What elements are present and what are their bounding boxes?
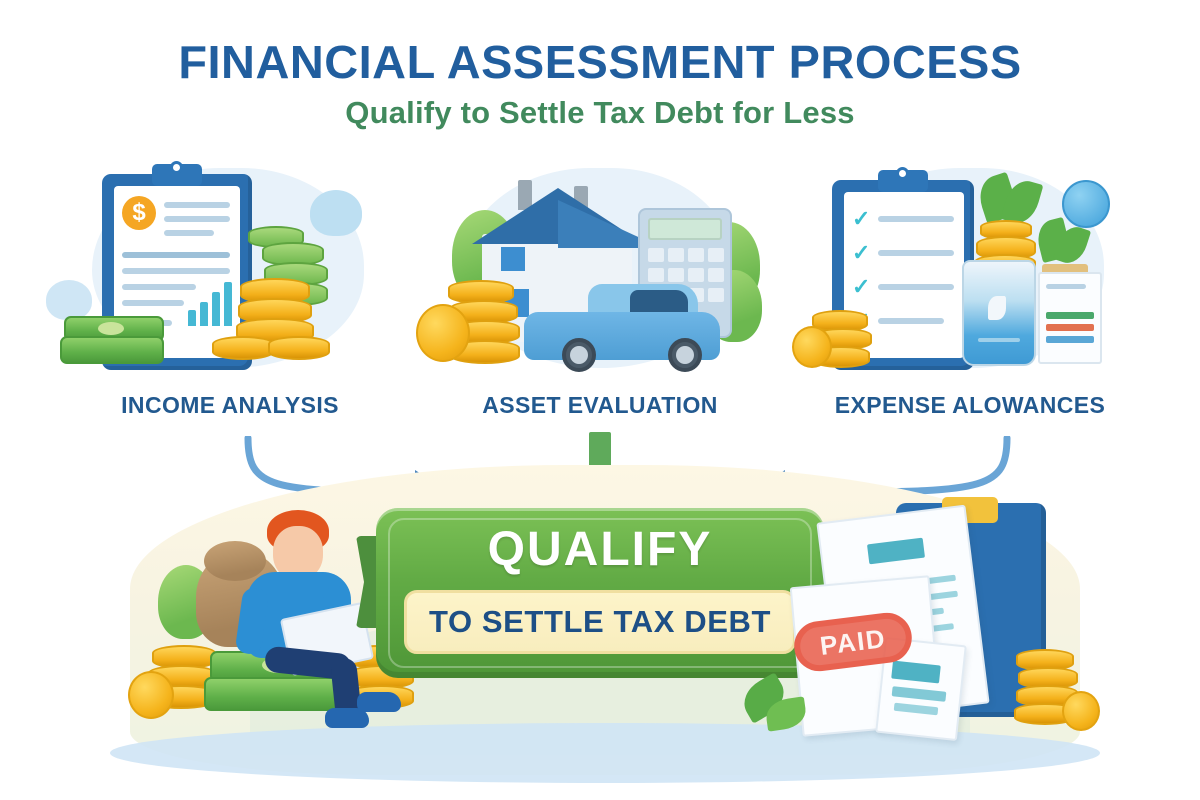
doc-line bbox=[122, 284, 196, 290]
calculator-key bbox=[668, 268, 684, 282]
calculator-key bbox=[708, 288, 724, 302]
calculator-key bbox=[708, 248, 724, 262]
coin-icon bbox=[128, 671, 174, 719]
car-wheel-hub bbox=[570, 346, 588, 364]
clipboard-ring-icon bbox=[896, 167, 909, 180]
qualify-banner[interactable]: QUALIFY TO SETTLE TAX DEBT bbox=[370, 500, 830, 690]
bar-chart-icon bbox=[200, 302, 208, 326]
badge-icon bbox=[1062, 180, 1110, 228]
bar-chart-icon bbox=[188, 310, 196, 326]
coin-icon bbox=[792, 326, 832, 368]
doc-line bbox=[122, 268, 230, 274]
ribbon-body: QUALIFY TO SETTLE TAX DEBT bbox=[376, 508, 824, 678]
banner-plate-text: TO SETTLE TAX DEBT bbox=[429, 604, 771, 640]
receipt-line bbox=[1046, 284, 1086, 289]
window-icon bbox=[498, 244, 528, 274]
chimney-icon bbox=[518, 180, 532, 210]
doc-line bbox=[122, 300, 184, 306]
calculator-key bbox=[668, 248, 684, 262]
coin-stack-icon bbox=[268, 336, 330, 360]
page-title: FINANCIAL ASSESSMENT PROCESS bbox=[0, 38, 1200, 87]
check-icon: ✓ bbox=[852, 206, 870, 232]
step-expense-alowances[interactable]: ✓ ✓ ✓ ✓ bbox=[780, 160, 1160, 440]
car-wheel-hub bbox=[676, 346, 694, 364]
coin-stack-icon bbox=[212, 336, 274, 360]
receipt-bar bbox=[1046, 336, 1094, 343]
calculator-key bbox=[688, 268, 704, 282]
step-label-income-analysis: INCOME ANALYSIS bbox=[40, 392, 420, 419]
bar-chart-icon bbox=[224, 282, 232, 326]
coin-icon bbox=[416, 304, 470, 362]
decor-blob-icon bbox=[46, 280, 92, 320]
cash-seal-icon bbox=[98, 322, 124, 335]
doc-line bbox=[164, 216, 230, 222]
expense-alowances-illustration: ✓ ✓ ✓ ✓ bbox=[780, 160, 1160, 390]
calculator-key bbox=[648, 268, 664, 282]
step-label-expense-alowances: EXPENSE ALOWANCES bbox=[780, 392, 1160, 419]
calculator-key bbox=[708, 268, 724, 282]
doc-line bbox=[878, 284, 954, 290]
cash-stack-icon bbox=[60, 336, 164, 364]
doc-line bbox=[122, 252, 230, 258]
clipboard-ring-icon bbox=[170, 161, 183, 174]
asset-evaluation-illustration bbox=[410, 160, 790, 390]
bottle-label-icon bbox=[988, 296, 1006, 320]
calculator-key bbox=[648, 248, 664, 262]
bottom-scene: QUALIFY TO SETTLE TAX DEBT PAID bbox=[0, 455, 1200, 800]
receipt-bar bbox=[1046, 324, 1094, 331]
step-income-analysis[interactable]: $ bbox=[40, 160, 420, 440]
doc-line bbox=[878, 318, 944, 324]
doc-line bbox=[164, 202, 230, 208]
process-steps: $ bbox=[0, 160, 1200, 440]
receipt-bar bbox=[1046, 312, 1094, 319]
dollar-sign-icon: $ bbox=[122, 196, 156, 230]
coin-icon bbox=[1062, 691, 1100, 731]
bar-chart-icon bbox=[212, 292, 220, 326]
page-subtitle: Qualify to Settle Tax Debt for Less bbox=[0, 95, 1200, 131]
header: FINANCIAL ASSESSMENT PROCESS Qualify to … bbox=[0, 38, 1200, 131]
calculator-key bbox=[688, 248, 704, 262]
check-icon: ✓ bbox=[852, 274, 870, 300]
infographic-canvas: FINANCIAL ASSESSMENT PROCESS Qualify to … bbox=[0, 0, 1200, 800]
step-label-asset-evaluation: ASSET EVALUATION bbox=[410, 392, 790, 419]
paid-stamp-text: PAID bbox=[818, 623, 887, 662]
check-icon: ✓ bbox=[852, 240, 870, 266]
tax-documents-group: PAID bbox=[790, 485, 1090, 755]
doc-line bbox=[164, 230, 214, 236]
income-analysis-illustration: $ bbox=[40, 160, 420, 390]
bottle-label-line bbox=[978, 338, 1020, 342]
step-asset-evaluation[interactable]: ASSET EVALUATION bbox=[410, 160, 790, 440]
banner-plate: TO SETTLE TAX DEBT bbox=[404, 590, 796, 654]
decor-blob-icon bbox=[310, 190, 362, 236]
calculator-screen bbox=[648, 218, 722, 240]
doc-line bbox=[878, 250, 954, 256]
doc-line bbox=[878, 216, 954, 222]
person-shoe bbox=[357, 692, 401, 712]
banner-headline: QUALIFY bbox=[376, 522, 824, 577]
